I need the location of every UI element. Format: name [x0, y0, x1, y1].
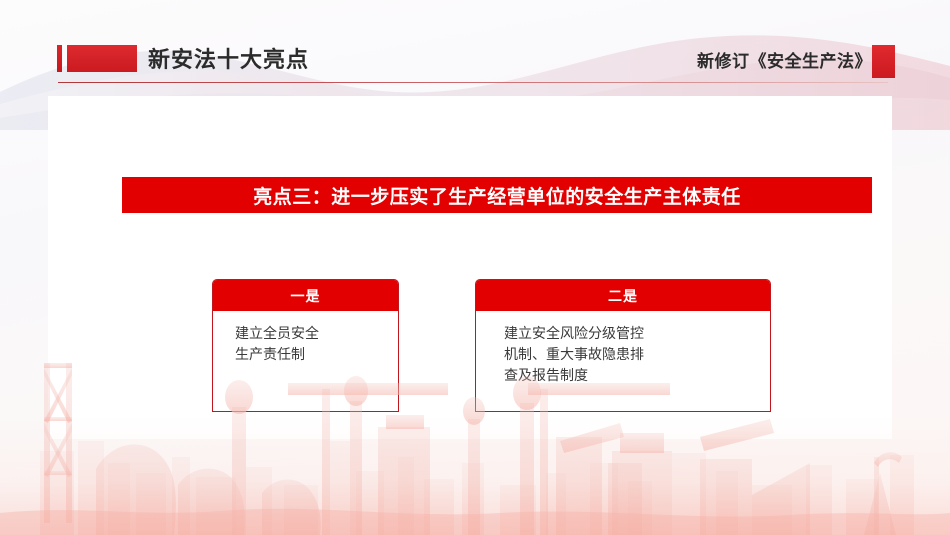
card-two-body-text: 建立安全风险分级管控 机制、重大事故隐患排 查及报告制度 [476, 311, 770, 386]
content-card-one: 一是 建立全员安全 生产责任制 [212, 279, 399, 412]
content-card-two: 二是 建立安全风险分级管控 机制、重大事故隐患排 查及报告制度 [475, 279, 771, 412]
section-banner-text: 亮点三：进一步压实了生产经营单位的安全生产主体责任 [253, 182, 741, 209]
card-two-header: 二是 [476, 280, 770, 311]
card-one-header-label: 一是 [291, 286, 321, 306]
header-accent-block [67, 45, 137, 72]
page-title: 新安法十大亮点 [148, 42, 309, 74]
header-subtitle: 新修订《安全生产法》 [697, 47, 872, 72]
slide-header: 新安法十大亮点 新修订《安全生产法》 [0, 0, 950, 96]
card-one-header: 一是 [213, 280, 398, 311]
section-banner: 亮点三：进一步压实了生产经营单位的安全生产主体责任 [122, 177, 872, 213]
slide-root: 新安法十大亮点 新修订《安全生产法》 亮点三：进一步压实了生产经营单位的安全生产… [0, 0, 950, 535]
card-two-header-label: 二是 [608, 286, 638, 306]
header-right-accent-block [872, 45, 895, 78]
header-divider [58, 82, 888, 83]
card-one-body-text: 建立全员安全 生产责任制 [213, 311, 398, 365]
header-accent-tick [57, 45, 62, 72]
